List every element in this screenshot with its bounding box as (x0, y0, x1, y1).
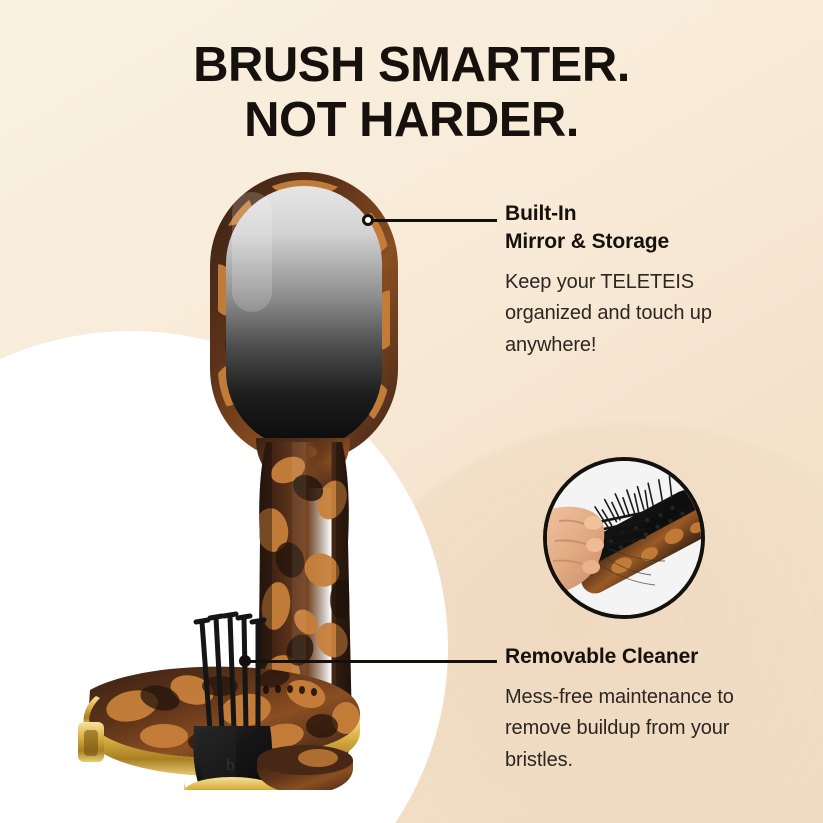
callout-built-in-mirror: Built-In Mirror & Storage Keep your TELE… (505, 200, 765, 361)
callout-removable-cleaner: Removable Cleaner Mess-free maintenance … (505, 643, 765, 776)
brush-head (204, 172, 405, 467)
svg-text:b: b (226, 755, 235, 774)
callout-title-mirror-line1: Built-In (505, 200, 765, 228)
page-title: BRUSH SMARTER. NOT HARDER. (0, 38, 823, 148)
headline-line-2: NOT HARDER. (0, 93, 823, 148)
handle-base-cap (257, 745, 353, 790)
leader-line-mirror (372, 219, 497, 222)
headline-line-1: BRUSH SMARTER. (0, 38, 823, 93)
callout-body-cleaner: Mess-free maintenance to remove buildup … (505, 682, 765, 776)
callout-body-mirror: Keep your TELETEIS organized and touch u… (505, 267, 765, 361)
callout-title-cleaner-line1: Removable Cleaner (505, 643, 765, 671)
leader-line-cleaner (249, 660, 497, 663)
infographic-canvas: BRUSH SMARTER. NOT HARDER. (0, 0, 823, 823)
callout-title-cleaner: Removable Cleaner (505, 643, 765, 671)
callout-title-mirror-line2: Mirror & Storage (505, 228, 765, 256)
inset-photo-removable-cleaner (543, 457, 705, 619)
callout-title-mirror: Built-In Mirror & Storage (505, 200, 765, 256)
product-illustration: b (60, 170, 460, 790)
